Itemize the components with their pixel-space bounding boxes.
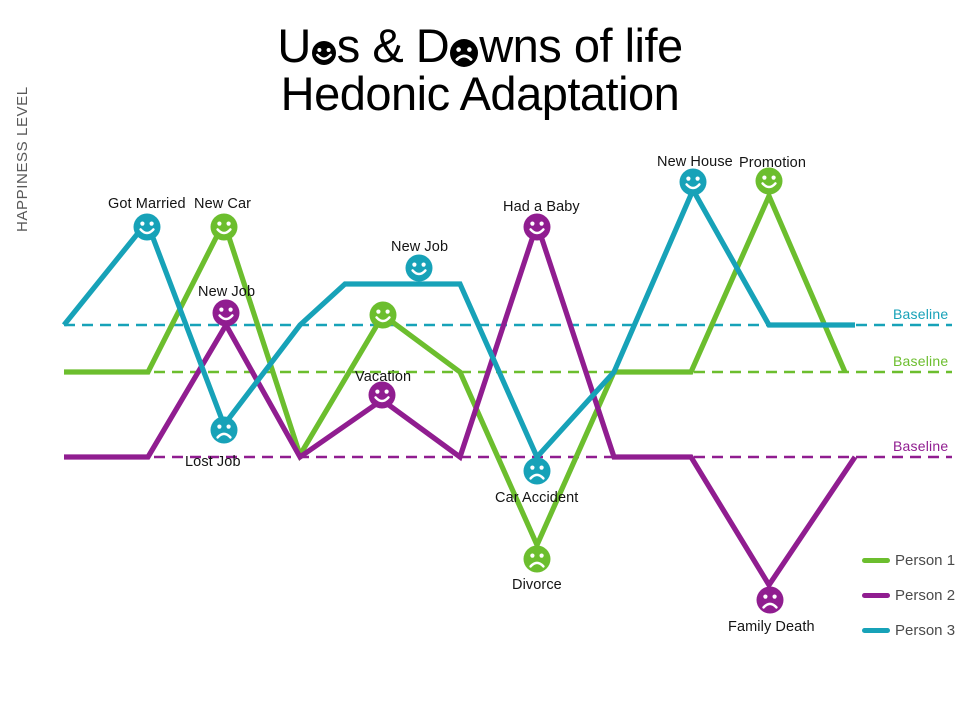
event-label-family-death: Family Death	[728, 619, 815, 635]
line-chart-plot	[0, 0, 960, 720]
frowny-face-icon	[524, 546, 551, 573]
smiley-face-icon	[134, 214, 161, 241]
legend-item-person-1[interactable]: Person 1	[862, 543, 955, 578]
event-label-new-car: New Car	[194, 196, 251, 212]
smiley-face-icon	[213, 300, 240, 327]
baseline-label-1: Baseline	[893, 306, 948, 322]
smiley-face-icon	[756, 168, 783, 195]
legend-item-person-2[interactable]: Person 2	[862, 578, 955, 613]
frowny-face-icon	[524, 458, 551, 485]
baseline-label-2: Baseline	[893, 353, 948, 369]
event-label-vacation: Vacation	[355, 369, 411, 385]
legend-label: Person 3	[895, 622, 955, 639]
event-label-car-accident: Car Accident	[495, 490, 578, 506]
legend-label: Person 2	[895, 587, 955, 604]
frowny-face-icon	[211, 417, 238, 444]
chart-legend: Person 1Person 2Person 3	[862, 543, 955, 648]
smiley-face-icon	[406, 255, 433, 282]
series-lines-group	[64, 190, 855, 585]
event-label-divorce: Divorce	[512, 577, 562, 593]
legend-item-person-3[interactable]: Person 3	[862, 613, 955, 648]
smiley-face-icon	[524, 214, 551, 241]
series-line-person-3	[64, 190, 855, 457]
series-line-person-2	[64, 224, 855, 585]
legend-swatch	[862, 628, 890, 633]
legend-label: Person 1	[895, 552, 955, 569]
legend-swatch	[862, 593, 890, 598]
smiley-face-icon	[680, 169, 707, 196]
slide-canvas: Us & Dwns of life Hedonic Adaptation HAP…	[0, 0, 960, 720]
smiley-face-icon	[369, 382, 396, 409]
event-label-got-married: Got Married	[108, 196, 186, 212]
event-label-new-house: New House	[657, 154, 733, 170]
event-label-new-job: New Job	[391, 239, 448, 255]
smiley-face-icon	[211, 214, 238, 241]
event-label-new-job: New Job	[198, 284, 255, 300]
event-label-lost-job: Lost Job	[185, 454, 241, 470]
event-label-promotion: Promotion	[739, 155, 806, 171]
baseline-label-3: Baseline	[893, 438, 948, 454]
event-face-icons-group	[134, 168, 784, 614]
event-label-had-a-baby: Had a Baby	[503, 199, 580, 215]
frowny-face-icon	[757, 587, 784, 614]
smiley-face-icon	[370, 302, 397, 329]
legend-swatch	[862, 558, 890, 563]
